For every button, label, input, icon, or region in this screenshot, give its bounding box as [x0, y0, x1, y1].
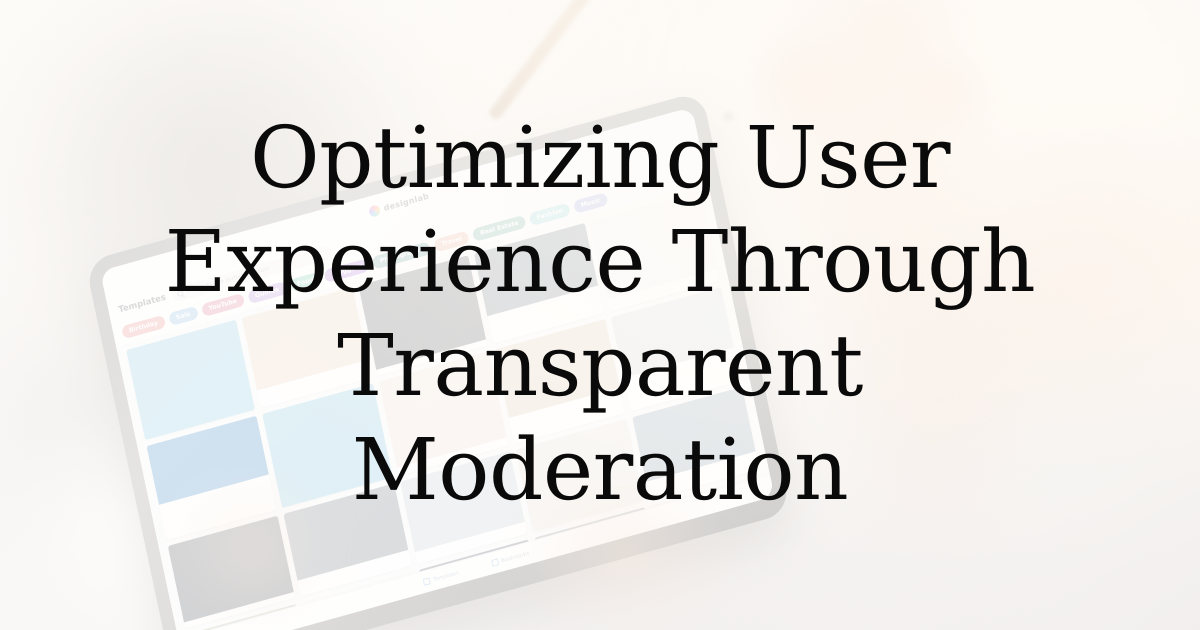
headline-line-3: Transparent: [337, 315, 863, 419]
headline-line-1: Optimizing User: [250, 107, 950, 211]
headline-line-4: Moderation: [352, 419, 849, 523]
headline-line-2: Experience Through: [165, 211, 1036, 315]
headline-block: Optimizing User Experience Through Trans…: [0, 0, 1200, 630]
social-share-card: designlab Templates Search for the perfe…: [0, 0, 1200, 630]
